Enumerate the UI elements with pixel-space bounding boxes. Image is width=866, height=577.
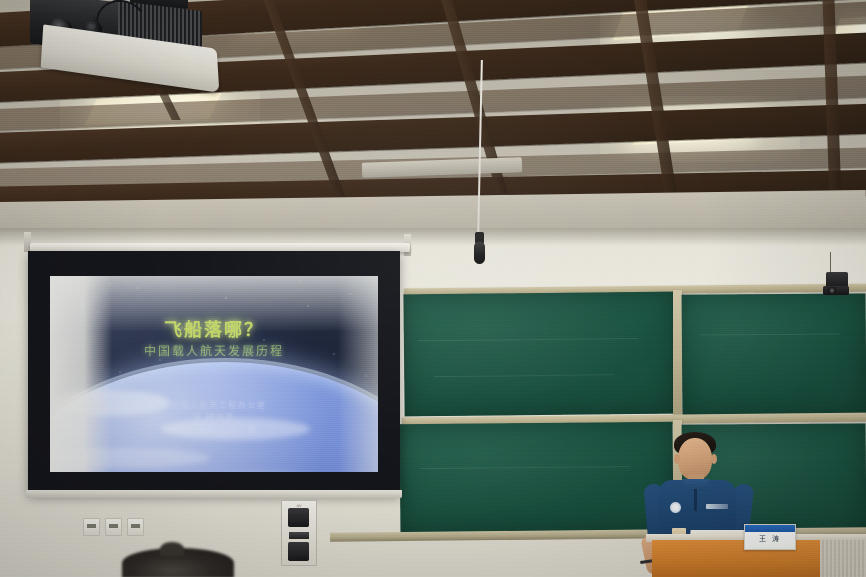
slide-footer-line: 二〇二四年七月二日	[50, 424, 378, 436]
slide-footer-line: 王 研究员	[50, 412, 378, 424]
light-switch[interactable]	[83, 518, 100, 536]
microphone-cable	[477, 60, 483, 238]
microphone-head-icon	[474, 242, 485, 264]
projected-slide: 飞船落哪？ 中国载人航天发展历程 中国载人航天工程办公室 王 研究员 二〇二四年…	[50, 276, 378, 472]
blackboard-panel	[400, 422, 674, 534]
camera-wire	[830, 252, 831, 274]
presenter-ear	[674, 454, 680, 464]
blackboard-panel	[403, 292, 674, 417]
slide-footer: 中国载人航天工程办公室 王 研究员 二〇二四年七月二日	[50, 400, 378, 436]
av-socket[interactable]	[288, 508, 309, 527]
blackboard-divider	[673, 290, 682, 422]
av-socket[interactable]	[288, 542, 309, 561]
light-switch[interactable]	[127, 518, 144, 536]
projection-hotspot-left	[50, 276, 112, 472]
av-indicator-strip	[289, 532, 309, 539]
slide-footer-line: 中国载人航天工程办公室	[50, 400, 378, 412]
slide-subtitle: 中国载人航天发展历程	[50, 342, 378, 359]
light-switch[interactable]	[105, 518, 122, 536]
switch-rocker-icon	[109, 524, 118, 528]
screen-bottom-bar	[26, 490, 402, 498]
camera-arm	[823, 286, 849, 295]
projection-screen: 飞船落哪？ 中国载人航天发展历程 中国载人航天工程办公室 王 研究员 二〇二四年…	[28, 251, 400, 494]
switch-rocker-icon	[131, 524, 140, 528]
camera-lens-icon	[828, 287, 836, 294]
presenter-logo-icon	[670, 502, 681, 513]
hanging-microphone	[472, 60, 492, 265]
name-card: 王 涛	[744, 524, 796, 550]
ceiling-projector	[22, 0, 222, 92]
ceiling	[0, 0, 866, 232]
projection-hotspot-right	[338, 276, 378, 472]
switch-rocker-icon	[87, 524, 96, 528]
lecture-hall-photo: 飞船落哪？ 中国载人航天发展历程 中国载人航天工程办公室 王 研究员 二〇二四年…	[0, 0, 866, 577]
av-control-panel[interactable]: AV	[281, 500, 317, 566]
chalk-streak	[418, 338, 638, 341]
audience-member-hair	[160, 542, 184, 556]
chalk-streak	[434, 374, 614, 377]
presenter-ear	[711, 454, 717, 464]
name-card-text: 王 涛	[745, 533, 795, 547]
chalk-streak	[420, 466, 630, 469]
name-card-band	[745, 525, 795, 532]
slide-title: 飞船落哪？	[50, 316, 378, 342]
chalk-streak	[700, 334, 840, 336]
presenter-placket	[694, 489, 697, 511]
presenter-chest-lettering	[706, 504, 728, 509]
podium-side-panel	[820, 540, 866, 577]
wall-camera	[818, 258, 854, 302]
blackboard-panel	[682, 293, 866, 416]
